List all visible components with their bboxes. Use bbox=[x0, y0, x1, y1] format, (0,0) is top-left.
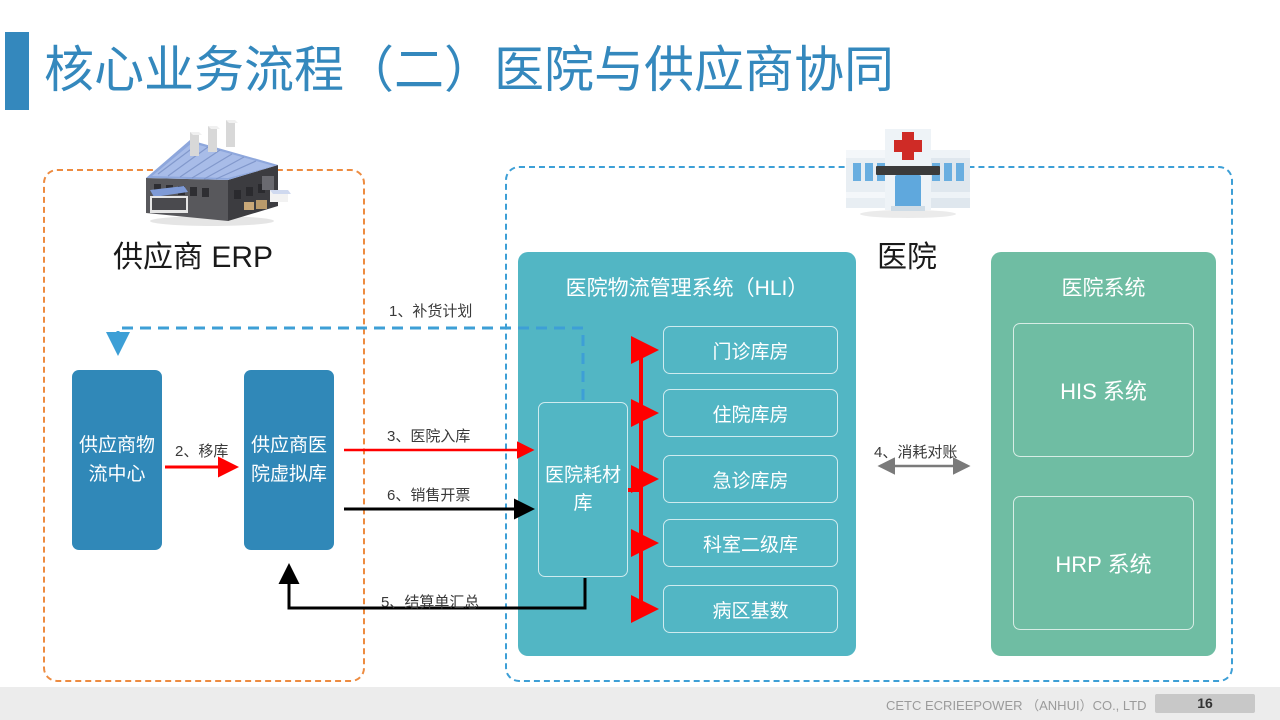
flow-label-1: 1、补货计划 bbox=[389, 300, 472, 321]
sub-store-emergency[interactable]: 急诊库房 bbox=[663, 455, 838, 503]
supplier-distribution-center-box[interactable]: 供应商物流中心 bbox=[72, 370, 162, 550]
sub-store-inpatient[interactable]: 住院库房 bbox=[663, 389, 838, 437]
hospital-consumable-store-label: 医院耗材库 bbox=[539, 462, 627, 518]
sub-store-ward-base-label: 病区基数 bbox=[712, 596, 788, 623]
hrp-system-label: HRP 系统 bbox=[1055, 547, 1151, 579]
sub-store-outpatient[interactable]: 门诊库房 bbox=[663, 326, 838, 374]
sub-store-emergency-label: 急诊库房 bbox=[712, 466, 788, 493]
flow-label-2: 2、移库 bbox=[175, 440, 228, 461]
his-system-label: HIS 系统 bbox=[1060, 374, 1147, 406]
supplier-virtual-warehouse-box[interactable]: 供应商医院虚拟库 bbox=[244, 370, 334, 550]
hospital-building-icon bbox=[838, 112, 978, 220]
sub-store-ward-base[interactable]: 病区基数 bbox=[663, 585, 838, 633]
page-title: 核心业务流程（二）医院与供应商协同 bbox=[44, 30, 894, 110]
hospital-consumable-store-box[interactable]: 医院耗材库 bbox=[538, 402, 628, 577]
slide-canvas: 核心业务流程（二）医院与供应商协同 bbox=[0, 0, 1280, 720]
sub-store-department-secondary-label: 科室二级库 bbox=[703, 530, 798, 557]
sub-store-outpatient-label: 门诊库房 bbox=[712, 337, 788, 364]
supplier-distribution-center-label: 供应商物流中心 bbox=[78, 431, 156, 489]
hospital-zone-label: 医院 bbox=[877, 232, 937, 276]
factory-icon bbox=[128, 118, 293, 228]
hli-panel-title: 医院物流管理系统（HLI） bbox=[518, 272, 856, 302]
sub-store-department-secondary[interactable]: 科室二级库 bbox=[663, 519, 838, 567]
flow-label-6: 6、销售开票 bbox=[387, 484, 470, 505]
flow-label-3: 3、医院入库 bbox=[387, 425, 470, 446]
hospital-system-title: 医院系统 bbox=[991, 272, 1216, 302]
flow-label-5: 5、结算单汇总 bbox=[381, 591, 479, 612]
his-system-box[interactable]: HIS 系统 bbox=[1013, 323, 1194, 457]
sub-store-inpatient-label: 住院库房 bbox=[712, 400, 788, 427]
title-accent-bar bbox=[5, 32, 29, 110]
footer-company-text: CETC ECRIEEPOWER （ANHUI）CO., LTD bbox=[886, 695, 1147, 714]
page-number: 16 bbox=[1155, 694, 1255, 713]
flow-label-4: 4、消耗对账 bbox=[874, 441, 957, 462]
supplier-zone-label: 供应商 ERP bbox=[113, 232, 273, 276]
hrp-system-box[interactable]: HRP 系统 bbox=[1013, 496, 1194, 630]
supplier-virtual-warehouse-label: 供应商医院虚拟库 bbox=[250, 431, 328, 489]
